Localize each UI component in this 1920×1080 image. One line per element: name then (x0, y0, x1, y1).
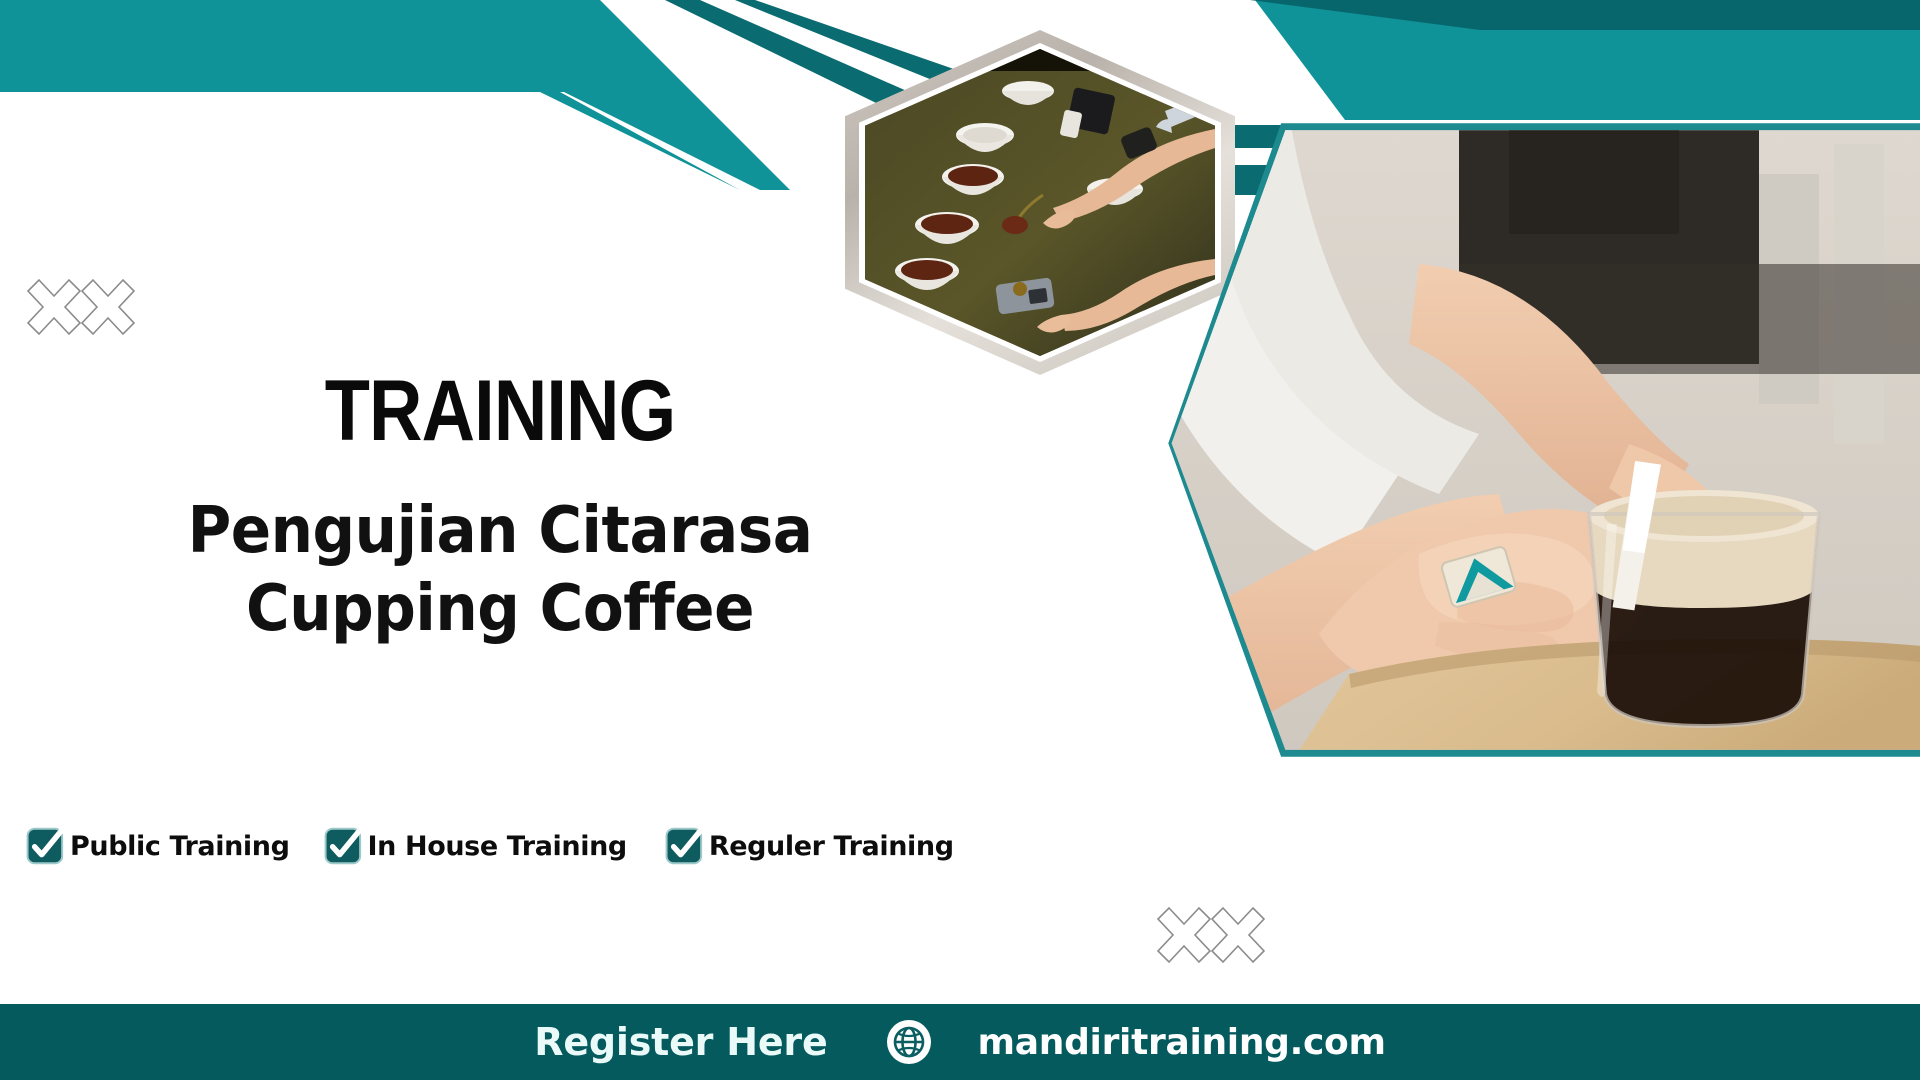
page-title-line-2: Coffee (540, 572, 754, 646)
training-type-label: Reguler Training (709, 831, 954, 862)
check-box-icon[interactable] (665, 824, 709, 868)
footer-bar: Register Here mandiritraining.com (0, 1004, 1920, 1080)
training-type-list: Public Training In House Training Regule… (26, 824, 954, 868)
poster-canvas: TRAINING Pengujian Citarasa Cupping Coff… (0, 0, 1920, 1080)
website-url[interactable]: mandiritraining.com (978, 1022, 1386, 1063)
training-type-in-house[interactable]: In House Training (324, 824, 627, 868)
cross-outline-icon (26, 278, 136, 340)
training-type-label: Public Training (70, 831, 290, 862)
coffee-stirring-photo (989, 114, 1920, 766)
training-type-public[interactable]: Public Training (26, 824, 290, 868)
page-title: Pengujian Citarasa Cupping Coffee (72, 492, 928, 648)
cross-outline-icon (1156, 906, 1266, 968)
eyebrow-title: TRAINING (70, 368, 930, 454)
register-cta[interactable]: Register Here (534, 1020, 827, 1064)
training-type-label: In House Training (368, 831, 627, 862)
check-box-icon[interactable] (26, 824, 70, 868)
angled-photo-frame (985, 110, 1920, 770)
check-box-icon[interactable] (324, 824, 368, 868)
training-type-reguler[interactable]: Reguler Training (665, 824, 954, 868)
globe-icon (886, 1019, 932, 1065)
